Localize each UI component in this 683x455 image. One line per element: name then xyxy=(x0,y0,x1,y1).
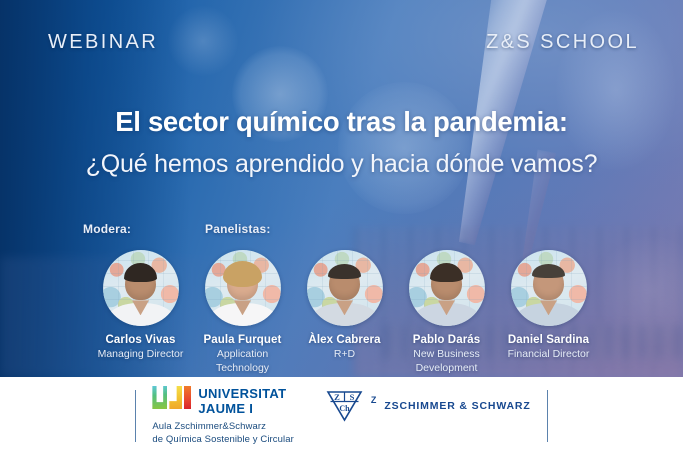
speaker-role: Financial Director xyxy=(508,348,590,361)
zs-triangle-svg: Z S Ch xyxy=(326,389,363,423)
page-subtitle: ¿Qué hemos aprendido y hacia dónde vamos… xyxy=(0,149,683,179)
uji-subtitle: Aula Zschimmer&Schwarz de Química Sosten… xyxy=(152,421,294,447)
uji-name-line2: JAUME I xyxy=(198,402,286,415)
speaker-name: Àlex Cabrera xyxy=(308,333,380,347)
svg-text:Ch: Ch xyxy=(339,404,350,413)
speaker-card: Carlos Vivas Managing Director xyxy=(90,250,192,362)
zschimmer-schwarz-logo: Z S Ch Z ZSCHIMMER & SCHWARZ xyxy=(310,389,547,423)
speaker-role: Managing Director xyxy=(98,348,184,361)
kicker-webinar: WEBINAR xyxy=(48,31,158,54)
label-panelists: Panelistas: xyxy=(205,222,271,236)
uji-subtitle-line2: de Química Sostenible y Circular xyxy=(152,434,294,447)
speaker-card: Pablo Darás New Business Development xyxy=(396,250,498,375)
speaker-role: R+D xyxy=(334,348,355,361)
speaker-card: Àlex Cabrera R+D xyxy=(294,250,396,362)
svg-text:S: S xyxy=(350,392,355,402)
speaker-card: Daniel Sardina Financial Director xyxy=(498,250,600,362)
uji-name-line1: UNIVERSITAT xyxy=(198,387,286,400)
zs-triangle-icon: Z S Ch xyxy=(326,389,363,423)
label-moderator: Modera: xyxy=(83,222,131,236)
avatar-hair xyxy=(223,261,262,287)
uji-mark-j-icon xyxy=(169,386,182,409)
uji-mark-i-icon xyxy=(184,386,191,409)
kicker-zs-school: Z&S SCHOOL xyxy=(486,31,639,54)
zs-wordmark: ZSCHIMMER & SCHWARZ xyxy=(384,400,530,412)
speaker-list: Carlos Vivas Managing Director Paula Fur… xyxy=(0,250,683,375)
page-title: El sector químico tras la pandemia: xyxy=(0,106,683,138)
avatar xyxy=(205,250,281,326)
speaker-name: Pablo Darás xyxy=(413,333,481,347)
avatar xyxy=(103,250,179,326)
webinar-poster: WEBINAR Z&S SCHOOL El sector químico tra… xyxy=(0,0,683,455)
uji-logo: UNIVERSITAT JAUME I Aula Zschimmer&Schwa… xyxy=(136,386,310,447)
speaker-name: Paula Furquet xyxy=(204,333,282,347)
uji-mark-u-icon xyxy=(152,386,167,409)
avatar xyxy=(307,250,383,326)
bokeh-circle xyxy=(168,6,238,76)
speaker-name: Daniel Sardina xyxy=(508,333,589,347)
avatar xyxy=(409,250,485,326)
footer-logo-bar: UNIVERSITAT JAUME I Aula Zschimmer&Schwa… xyxy=(0,377,683,455)
speaker-name: Carlos Vivas xyxy=(105,333,175,347)
speaker-card: Paula Furquet Application Technology xyxy=(192,250,294,375)
speaker-role: New Business Development xyxy=(396,348,498,374)
divider-right xyxy=(547,390,549,442)
title-block: El sector químico tras la pandemia: ¿Qué… xyxy=(0,106,683,179)
svg-text:Z: Z xyxy=(334,392,340,402)
avatar-hair xyxy=(532,264,565,278)
uji-subtitle-line1: Aula Zschimmer&Schwarz xyxy=(152,421,294,434)
uji-logomark-icon xyxy=(152,386,191,409)
speaker-role: Application Technology xyxy=(192,348,294,374)
avatar xyxy=(511,250,587,326)
zs-mark-z-outside: Z xyxy=(371,395,377,405)
